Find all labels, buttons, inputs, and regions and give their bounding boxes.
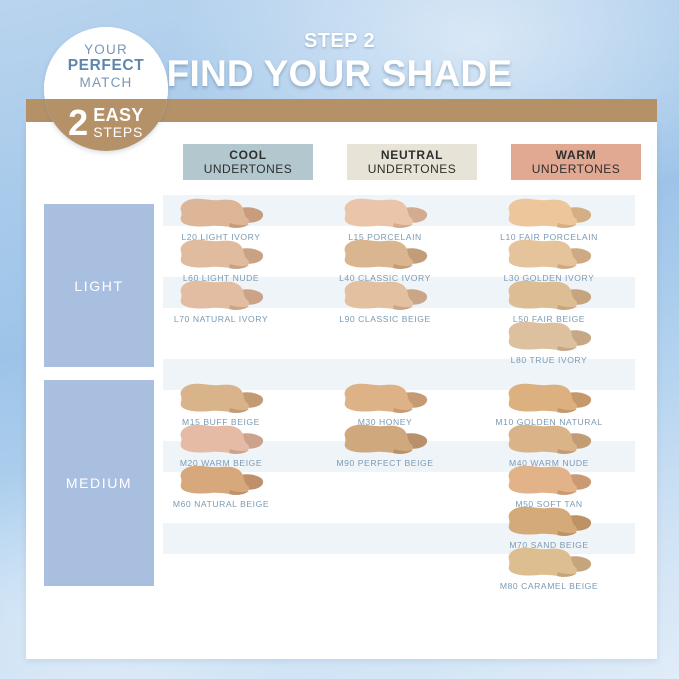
tone-label: LIGHT [74, 278, 123, 294]
foundation-smear-icon [503, 197, 595, 231]
badge-easy-text: EASY [93, 106, 144, 124]
foundation-smear-icon [503, 320, 595, 354]
badge-perfect-text: PERFECT [68, 57, 145, 75]
shade-cell-l15[interactable]: L15 PORCELAIN [310, 197, 460, 242]
foundation-smear-icon [503, 464, 595, 498]
shade-cell-m60[interactable]: M60 NATURAL BEIGE [146, 464, 296, 509]
foundation-smear-icon [175, 382, 267, 416]
shade-cell-l60[interactable]: L60 LIGHT NUDE [146, 238, 296, 283]
tone-block-medium[interactable]: MEDIUM [44, 380, 154, 586]
shade-cell-m70[interactable]: M70 SAND BEIGE [474, 505, 624, 550]
shade-name: M90 PERFECT BEIGE [310, 458, 460, 468]
foundation-smear-icon [339, 279, 431, 313]
shade-cell-m40[interactable]: M40 WARM NUDE [474, 423, 624, 468]
foundation-smear-icon [339, 197, 431, 231]
foundation-smear-icon [503, 279, 595, 313]
foundation-smear-icon [339, 423, 431, 457]
foundation-smear-icon [339, 238, 431, 272]
undertone-cool-title: COOL [229, 148, 266, 162]
badge-steps-text: STEPS [93, 124, 144, 140]
shade-swatch [175, 197, 267, 231]
shade-cell-l10[interactable]: L10 FAIR PORCELAIN [474, 197, 624, 242]
shade-swatch [339, 423, 431, 457]
shade-cell-m15[interactable]: M15 BUFF BEIGE [146, 382, 296, 427]
foundation-smear-icon [503, 238, 595, 272]
badge-bottom-half: 2 EASY STEPS [44, 99, 168, 151]
undertone-warm-title: WARM [556, 148, 597, 162]
undertone-cool-sub: UNDERTONES [204, 162, 293, 176]
shade-swatch [503, 382, 595, 416]
undertone-header-cool[interactable]: COOL UNDERTONES [183, 144, 313, 180]
shade-cell-l20[interactable]: L20 LIGHT IVORY [146, 197, 296, 242]
shade-cell-l50[interactable]: L50 FAIR BEIGE [474, 279, 624, 324]
shade-name: L70 NATURAL IVORY [146, 314, 296, 324]
shade-cell-m30[interactable]: M30 HONEY [310, 382, 460, 427]
badge-match-text: MATCH [80, 75, 133, 91]
tone-label: MEDIUM [66, 475, 132, 491]
undertone-neutral-sub: UNDERTONES [368, 162, 457, 176]
undertone-header-neutral[interactable]: NEUTRAL UNDERTONES [347, 144, 477, 180]
foundation-smear-icon [339, 382, 431, 416]
shade-swatch [339, 279, 431, 313]
foundation-smear-icon [175, 238, 267, 272]
shade-swatch [339, 238, 431, 272]
shade-swatch [175, 279, 267, 313]
undertone-header-warm[interactable]: WARM UNDERTONES [511, 144, 641, 180]
shade-cell-m50[interactable]: M50 SOFT TAN [474, 464, 624, 509]
foundation-smear-icon [175, 197, 267, 231]
undertone-neutral-title: NEUTRAL [381, 148, 443, 162]
badge-steps-stack: EASY STEPS [93, 106, 144, 140]
foundation-smear-icon [175, 423, 267, 457]
tone-block-light[interactable]: LIGHT [44, 204, 154, 367]
foundation-smear-icon [175, 279, 267, 313]
shade-swatch [503, 423, 595, 457]
foundation-smear-icon [503, 505, 595, 539]
undertone-warm-sub: UNDERTONES [532, 162, 621, 176]
shade-name: L80 TRUE IVORY [474, 355, 624, 365]
shade-swatch [503, 279, 595, 313]
shade-cell-l40[interactable]: L40 CLASSIC IVORY [310, 238, 460, 283]
shade-cell-l90[interactable]: L90 CLASSIC BEIGE [310, 279, 460, 324]
shade-cell-l80[interactable]: L80 TRUE IVORY [474, 320, 624, 365]
badge-step-number: 2 [68, 106, 88, 140]
shade-swatch [503, 320, 595, 354]
shade-swatch [175, 423, 267, 457]
shade-swatch [339, 197, 431, 231]
foundation-smear-icon [503, 546, 595, 580]
shade-cell-m10[interactable]: M10 GOLDEN NATURAL [474, 382, 624, 427]
shade-swatch [503, 546, 595, 580]
shade-cell-l70[interactable]: L70 NATURAL IVORY [146, 279, 296, 324]
shade-cell-m90[interactable]: M90 PERFECT BEIGE [310, 423, 460, 468]
perfect-match-badge: YOUR PERFECT MATCH 2 EASY STEPS [44, 27, 168, 151]
shade-name: M60 NATURAL BEIGE [146, 499, 296, 509]
shade-name: M80 CARAMEL BEIGE [474, 581, 624, 591]
shade-cell-m20[interactable]: M20 WARM BEIGE [146, 423, 296, 468]
shade-swatch [503, 464, 595, 498]
shade-cell-l30[interactable]: L30 GOLDEN IVORY [474, 238, 624, 283]
shade-cell-m80[interactable]: M80 CARAMEL BEIGE [474, 546, 624, 591]
shade-name: L90 CLASSIC BEIGE [310, 314, 460, 324]
foundation-smear-icon [503, 423, 595, 457]
shade-swatch [503, 197, 595, 231]
badge-your-text: YOUR [84, 42, 128, 57]
shade-swatch [503, 238, 595, 272]
shade-swatch [175, 382, 267, 416]
foundation-smear-icon [175, 464, 267, 498]
shade-swatch [175, 464, 267, 498]
shade-grid: LIGHTMEDIUM L20 LIGHT IVORY L60 LIGHT NU… [0, 195, 679, 615]
shade-swatch [175, 238, 267, 272]
shade-swatch [503, 505, 595, 539]
foundation-smear-icon [503, 382, 595, 416]
shade-swatch [339, 382, 431, 416]
badge-top-half: YOUR PERFECT MATCH [44, 27, 168, 99]
